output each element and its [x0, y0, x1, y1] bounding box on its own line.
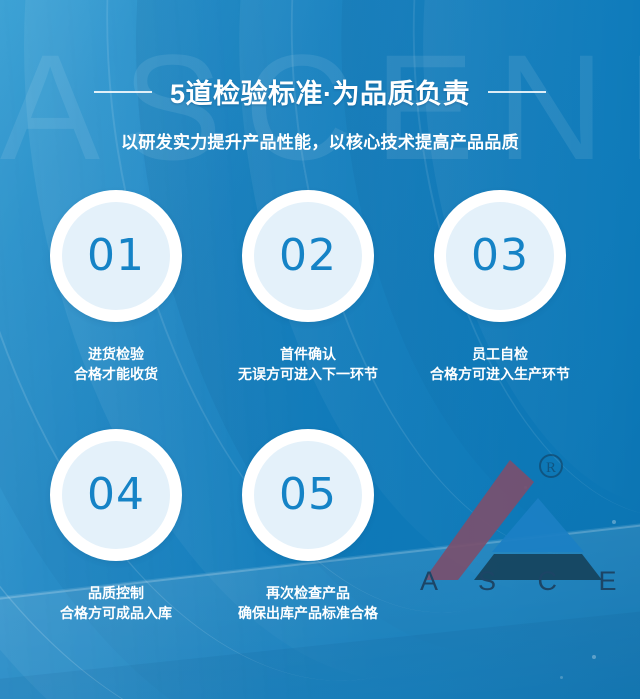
step-caption-05: 再次检查产品 确保出库产品标准合格 [238, 583, 378, 623]
page-title: 5道检验标准·为品质负责 [170, 72, 470, 111]
step-caption-03: 员工自检 合格方可进入生产环节 [430, 344, 570, 384]
title-rule-right-icon [488, 91, 546, 93]
brand-logo-wordmark: A S C E N D [420, 566, 634, 597]
step-number-05: 05 [279, 473, 337, 517]
step-caption-line2-03: 合格方可进入生产环节 [430, 364, 570, 384]
step-circle-02: 02 [242, 190, 374, 322]
registered-mark-icon: R [540, 455, 562, 477]
steps-row-top: 01 进货检验 合格才能收货 02 首件确认 无误方可进入下一环节 03 [0, 190, 640, 384]
step-caption-line2-05: 确保出库产品标准合格 [238, 603, 378, 623]
step-caption-line1-05: 再次检查产品 [238, 583, 378, 603]
step-circle-01: 01 [50, 190, 182, 322]
step-circle-03: 03 [434, 190, 566, 322]
step-number-04: 04 [87, 473, 145, 517]
title-rule-left-icon [94, 91, 152, 93]
step-caption-line1-03: 员工自检 [430, 344, 570, 364]
poster-content: 5道检验标准·为品质负责 以研发实力提升产品性能，以核心技术提高产品品质 01 … [0, 0, 640, 699]
step-item-02: 02 首件确认 无误方可进入下一环节 [212, 190, 404, 384]
brand-logo: R A S C E N D [414, 438, 640, 610]
step-caption-line2-01: 合格才能收货 [74, 364, 158, 384]
step-caption-line1-01: 进货检验 [74, 344, 158, 364]
step-circle-05: 05 [242, 429, 374, 561]
step-circle-04: 04 [50, 429, 182, 561]
page-subtitle: 以研发实力提升产品性能，以核心技术提高产品品质 [0, 128, 640, 153]
step-caption-line1-04: 品质控制 [60, 583, 172, 603]
step-caption-line2-02: 无误方可进入下一环节 [238, 364, 378, 384]
header-title-row: 5道检验标准·为品质负责 [0, 72, 640, 111]
step-item-05: 05 再次检查产品 确保出库产品标准合格 [212, 429, 404, 623]
step-item-04: 04 品质控制 合格方可成品入库 [20, 429, 212, 623]
step-number-02: 02 [279, 234, 337, 278]
step-caption-01: 进货检验 合格才能收货 [74, 344, 158, 384]
step-caption-04: 品质控制 合格方可成品入库 [60, 583, 172, 623]
step-number-03: 03 [471, 234, 529, 278]
step-caption-line2-04: 合格方可成品入库 [60, 603, 172, 623]
step-item-01: 01 进货检验 合格才能收货 [20, 190, 212, 384]
step-item-03: 03 员工自检 合格方可进入生产环节 [404, 190, 596, 384]
step-caption-line1-02: 首件确认 [238, 344, 378, 364]
step-number-01: 01 [87, 234, 145, 278]
step-caption-02: 首件确认 无误方可进入下一环节 [238, 344, 378, 384]
svg-text:R: R [546, 460, 556, 476]
